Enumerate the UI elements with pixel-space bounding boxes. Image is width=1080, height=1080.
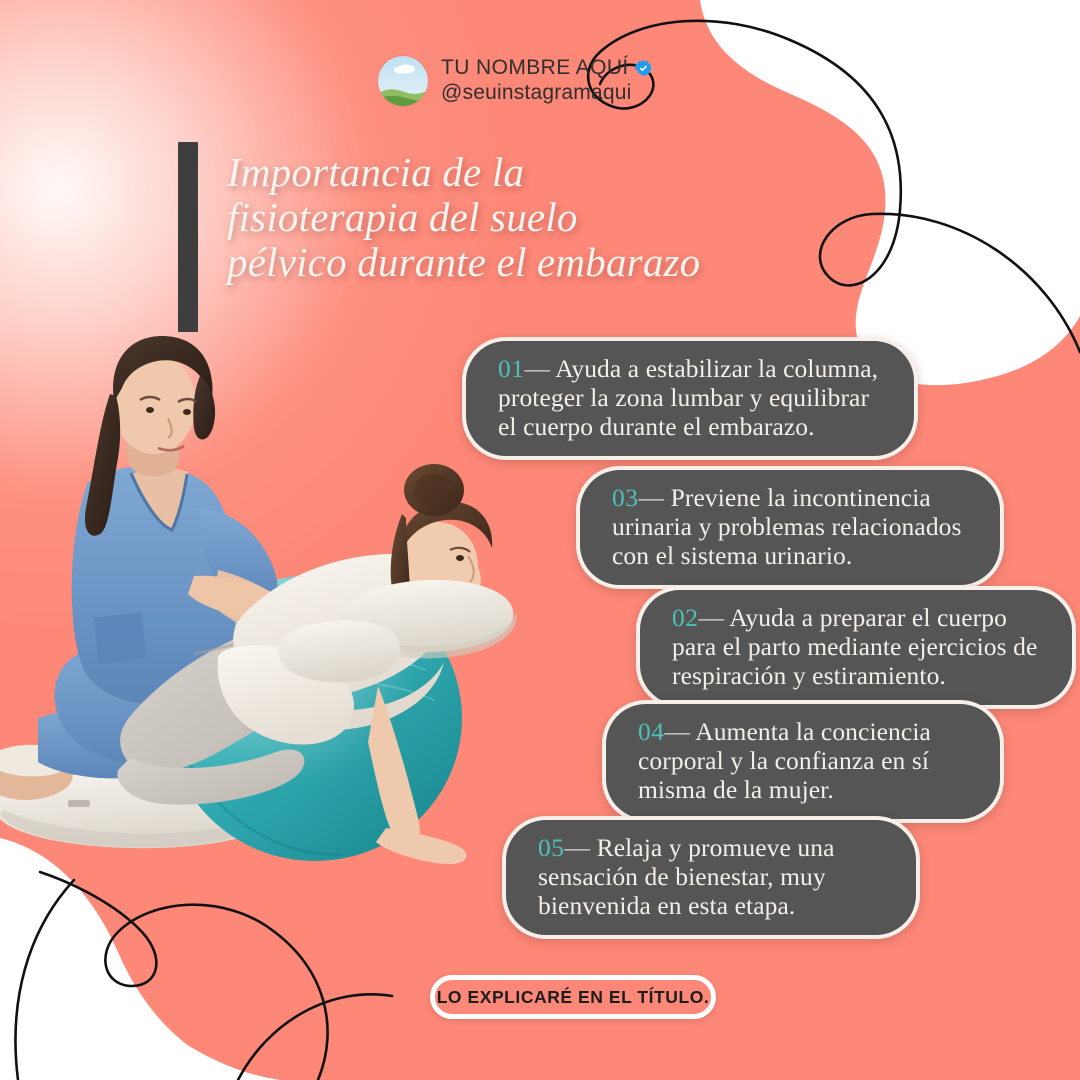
benefit-card-01-number: 01 — [498, 354, 525, 383]
benefit-card-03-dash: — — [639, 483, 665, 512]
benefit-card-01[interactable]: 01— Ayuda a estabilizar la columna, prot… — [462, 337, 918, 460]
benefit-card-05[interactable]: 05— Relaja y promueve una sensación de b… — [502, 816, 920, 939]
benefit-card-03[interactable]: 03— Previene la incontinencia urinaria y… — [576, 466, 1004, 589]
benefit-card-01-body: Ayuda a estabilizar la columna, proteger… — [498, 354, 878, 441]
benefit-card-03-body: Previene la incontinencia urinaria y pro… — [612, 483, 962, 570]
benefit-card-02-dash: — — [699, 603, 725, 632]
benefit-card-04[interactable]: 04— Aumenta la conciencia corporal y la … — [602, 700, 1004, 823]
benefit-card-03-number: 03 — [612, 483, 639, 512]
benefit-card-04-dash: — — [665, 717, 691, 746]
benefit-card-02-body: Ayuda a preparar el cuerpo para el parto… — [672, 603, 1037, 690]
profile-handle: @seuinstagramaqui — [441, 81, 653, 106]
profile-text-group: TU NOMBRE AQUÍ @seuinstagramaqui — [441, 56, 653, 106]
profile-name: TU NOMBRE AQUÍ — [441, 56, 629, 81]
benefit-card-02-number: 02 — [672, 603, 699, 632]
cta-button[interactable]: LO EXPLICARÉ EN EL TÍTULO. — [430, 975, 716, 1019]
benefit-card-02[interactable]: 02— Ayuda a preparar el cuerpo para el p… — [636, 586, 1076, 709]
benefit-card-05-dash: — — [565, 833, 591, 862]
benefit-card-05-text: 05— Relaja y promueve una sensación de b… — [538, 833, 890, 920]
benefit-card-list: 01— Ayuda a estabilizar la columna, prot… — [0, 0, 1080, 1080]
benefit-card-02-text: 02— Ayuda a preparar el cuerpo para el p… — [672, 603, 1046, 690]
benefit-card-01-dash: — — [525, 354, 551, 383]
cta-button-label: LO EXPLICARÉ EN EL TÍTULO. — [437, 987, 710, 1008]
benefit-card-01-text: 01— Ayuda a estabilizar la columna, prot… — [498, 354, 888, 441]
benefit-card-04-text: 04— Aumenta la conciencia corporal y la … — [638, 717, 974, 804]
benefit-card-03-text: 03— Previene la incontinencia urinaria y… — [612, 483, 974, 570]
benefit-card-05-number: 05 — [538, 833, 565, 862]
landscape-avatar-icon[interactable] — [378, 56, 428, 106]
verified-badge-icon — [634, 59, 653, 78]
benefit-card-04-number: 04 — [638, 717, 665, 746]
poster-canvas: TU NOMBRE AQUÍ @seuinstagramaqui Importa… — [0, 0, 1080, 1080]
profile-name-row: TU NOMBRE AQUÍ — [441, 56, 653, 81]
profile-header[interactable]: TU NOMBRE AQUÍ @seuinstagramaqui — [378, 56, 653, 106]
